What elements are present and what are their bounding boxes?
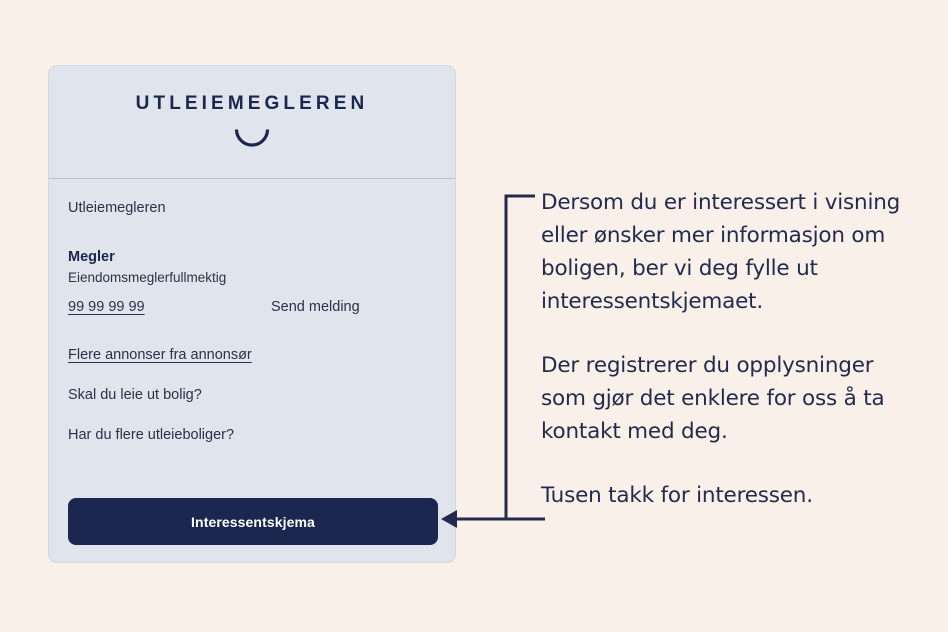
agent-title: Eiendomsmeglerfullmektig bbox=[68, 270, 436, 285]
agent-contact-card: UTLEIEMEGLEREN Utleiemegleren Megler Eie… bbox=[48, 65, 456, 563]
more-rental-homes-link[interactable]: Har du flere utleieboliger? bbox=[68, 427, 436, 443]
interest-form-button[interactable]: Interessentskjema bbox=[68, 498, 438, 545]
card-body: Utleiemegleren Megler Eiendomsmeglerfull… bbox=[49, 179, 455, 443]
send-message-link[interactable]: Send melding bbox=[271, 299, 360, 315]
company-name: Utleiemegleren bbox=[68, 199, 436, 217]
agent-name: Megler bbox=[68, 249, 436, 265]
contact-row: 99 99 99 99 Send melding bbox=[68, 299, 436, 315]
annotation-text-block: Dersom du er interessert i visning eller… bbox=[541, 186, 913, 512]
annotation-paragraph-1: Dersom du er interessert i visning eller… bbox=[541, 186, 913, 318]
brand-wordmark: UTLEIEMEGLEREN bbox=[49, 93, 455, 115]
annotation-paragraph-3: Tusen takk for interessen. bbox=[541, 479, 913, 512]
smile-arc-icon bbox=[49, 128, 455, 150]
card-header: UTLEIEMEGLEREN bbox=[49, 66, 455, 179]
annotation-paragraph-2: Der registrerer du opplysninger som gjør… bbox=[541, 349, 913, 448]
more-ads-from-advertiser-link[interactable]: Flere annonser fra annonsør bbox=[68, 347, 436, 363]
rent-out-home-link[interactable]: Skal du leie ut bolig? bbox=[68, 387, 436, 403]
phone-number-link[interactable]: 99 99 99 99 bbox=[68, 299, 271, 315]
